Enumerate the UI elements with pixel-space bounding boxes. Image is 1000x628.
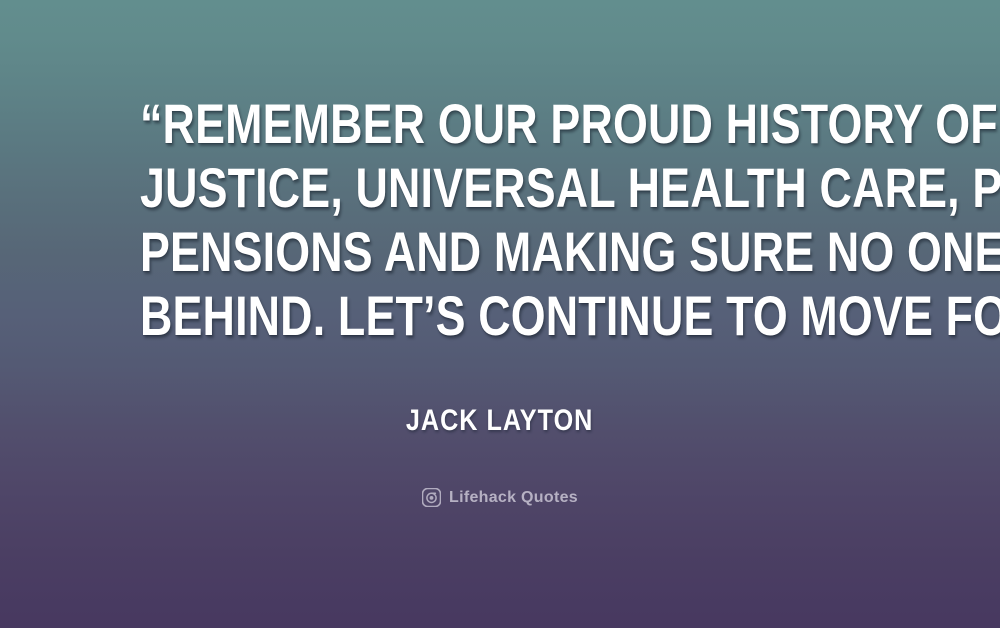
quote-line: BEHIND. LET’S CONTINUE TO MOVE FORWARD.”: [140, 284, 860, 348]
lifehack-circle-logo-icon: [422, 488, 441, 507]
brand-name: Lifehack Quotes: [449, 488, 578, 507]
brand-footer: Lifehack Quotes: [422, 488, 578, 507]
quote-author: JACK LAYTON: [406, 404, 594, 438]
quote-image-card: “REMEMBER OUR PROUD HISTORY OF SOCIAL JU…: [0, 0, 1000, 628]
quote-line: “REMEMBER OUR PROUD HISTORY OF SOCIAL: [140, 92, 860, 156]
quote-text: “REMEMBER OUR PROUD HISTORY OF SOCIAL JU…: [140, 92, 860, 348]
quote-line: PENSIONS AND MAKING SURE NO ONE IS LEFT: [140, 220, 860, 284]
quote-line: JUSTICE, UNIVERSAL HEALTH CARE, PUBLIC: [140, 156, 860, 220]
